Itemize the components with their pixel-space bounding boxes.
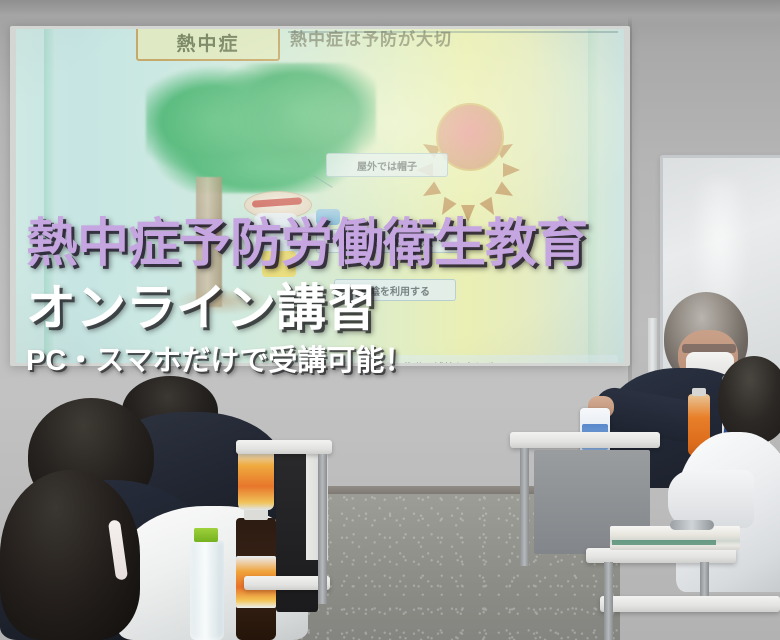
- ceiling-shadow: [0, 0, 780, 26]
- water-bottle-green-cap: [194, 528, 218, 542]
- student-desk-right-leg-b: [700, 562, 709, 596]
- student-desk-left-leg: [318, 454, 327, 604]
- student-desk-right-leg-a: [604, 562, 613, 640]
- student-right-head: [718, 356, 780, 444]
- eyeglasses-on-desk: [670, 520, 714, 530]
- water-bottle-clear: [190, 540, 224, 640]
- instructor-desk-leg: [520, 448, 529, 566]
- overlay-title-line1: 熱中症予防労働衛生教育: [26, 218, 587, 270]
- student-desk-right-lower: [600, 596, 780, 612]
- student-desk-left: [236, 440, 332, 454]
- screenshot-root: 熱中症は予防が大切 熱中症 屋外では帽子 水分をこまめに摂取 日陰を利用する ・…: [0, 0, 780, 640]
- student-desk-right-upper: [586, 548, 736, 563]
- overlay-subtitle: PC・スマホだけで受講可能！: [26, 347, 413, 376]
- instructor-desk: [510, 432, 660, 448]
- study-materials-spine: [612, 540, 716, 545]
- overlay-title-line2: オンライン講習: [26, 283, 376, 333]
- orange-drink-cap: [692, 388, 706, 396]
- snack-box-upper: [238, 448, 274, 510]
